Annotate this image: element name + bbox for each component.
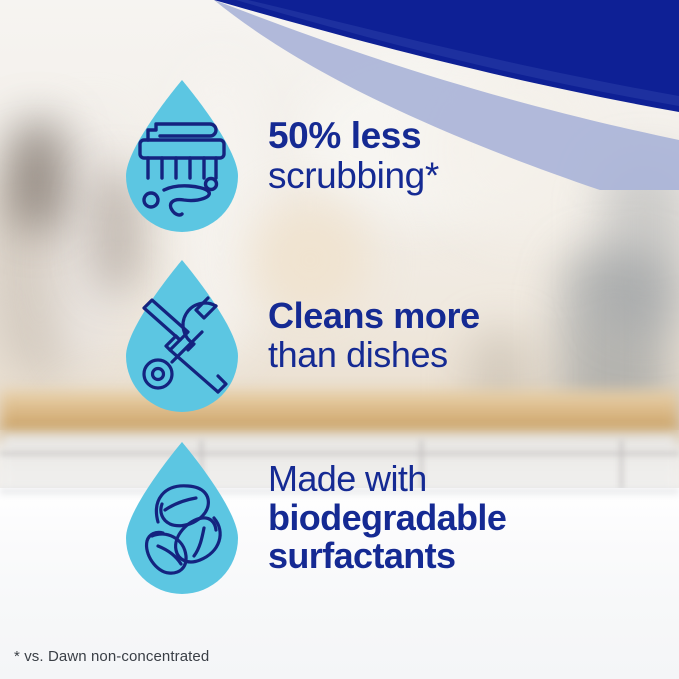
recycle-leaves-icon	[118, 440, 246, 596]
feature-row-cleans-more: Cleans more than dishes	[118, 258, 480, 414]
feature-line-1: 50% less	[268, 116, 439, 156]
feature-row-biodegradable: Made with biodegradable surfactants	[118, 440, 506, 596]
feature-line-1: Made with	[268, 460, 506, 499]
feature-line-3: surfactants	[268, 537, 506, 576]
droplet-badge	[118, 440, 246, 596]
wrench-screwdriver-icon	[118, 258, 246, 414]
feature-row-less-scrubbing: 50% less scrubbing*	[118, 78, 439, 234]
feature-line-1: Cleans more	[268, 297, 480, 336]
droplet-badge	[118, 78, 246, 234]
droplet-badge	[118, 258, 246, 414]
feature-line-2: scrubbing*	[268, 156, 439, 196]
feature-line-2: than dishes	[268, 336, 480, 375]
footnote-text: * vs. Dawn non-concentrated	[14, 648, 209, 665]
feature-text: Made with biodegradable surfactants	[268, 460, 506, 577]
infographic-canvas: 50% less scrubbing*	[0, 0, 679, 679]
feature-text: Cleans more than dishes	[268, 297, 480, 375]
scrub-brush-icon	[118, 78, 246, 234]
feature-line-2: biodegradable	[268, 499, 506, 538]
feature-text: 50% less scrubbing*	[268, 116, 439, 196]
